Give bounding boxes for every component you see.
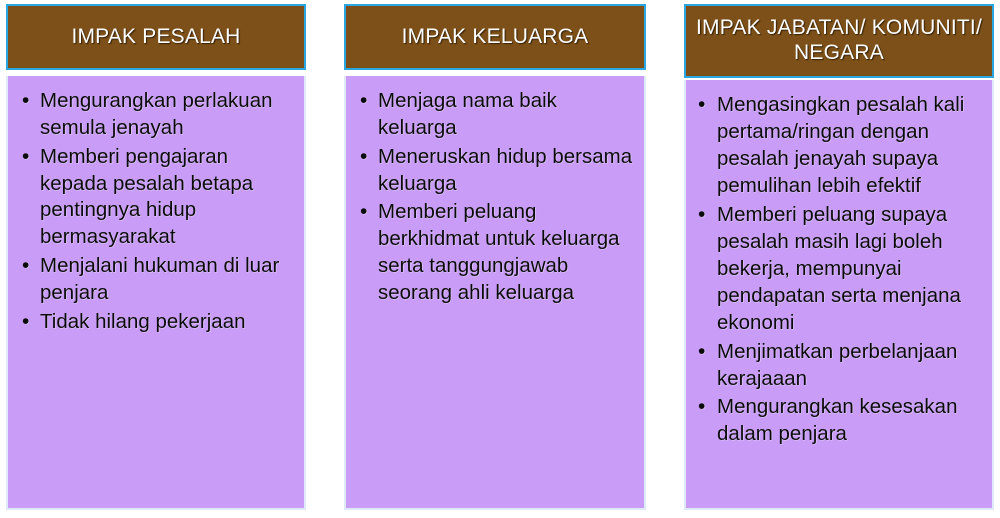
list-item: Menjimatkan perbelanjaan kerajaaan: [692, 339, 984, 393]
column-impak-jabatan-komuniti-negara: IMPAK JABATAN/ KOMUNITI/ NEGARA Mengasin…: [684, 4, 994, 510]
list-item: Memberi pengajaran kepada pesalah betapa…: [14, 144, 296, 251]
list-item: Menjaga nama baik keluarga: [352, 88, 636, 142]
column-body-impak-keluarga: Menjaga nama baik keluarga Meneruskan hi…: [344, 76, 646, 510]
list-item: Mengurangkan kesesakan dalam penjara: [692, 394, 984, 448]
bullet-list-impak-keluarga: Menjaga nama baik keluarga Meneruskan hi…: [352, 88, 636, 307]
column-header-impak-pesalah: IMPAK PESALAH: [6, 4, 306, 70]
impact-comparison-board: IMPAK PESALAH Mengurangkan perlakuan sem…: [0, 0, 1000, 518]
column-header-impak-jabatan-komuniti-negara: IMPAK JABATAN/ KOMUNITI/ NEGARA: [684, 4, 994, 78]
column-impak-pesalah: IMPAK PESALAH Mengurangkan perlakuan sem…: [6, 4, 306, 510]
list-item: Mengasingkan pesalah kali pertama/ringan…: [692, 92, 984, 200]
column-header-impak-keluarga: IMPAK KELUARGA: [344, 4, 646, 70]
list-item: Meneruskan hidup bersama keluarga: [352, 144, 636, 198]
bullet-list-impak-pesalah: Mengurangkan perlakuan semula jenayah Me…: [14, 88, 296, 336]
column-body-impak-pesalah: Mengurangkan perlakuan semula jenayah Me…: [6, 76, 306, 510]
list-item: Menjalani hukuman di luar penjara: [14, 253, 296, 307]
list-item: Memberi peluang supaya pesalah masih lag…: [692, 202, 984, 337]
list-item: Mengurangkan perlakuan semula jenayah: [14, 88, 296, 142]
list-item: Memberi peluang berkhidmat untuk keluarg…: [352, 199, 636, 306]
column-body-impak-jabatan-komuniti-negara: Mengasingkan pesalah kali pertama/ringan…: [684, 80, 994, 510]
column-impak-keluarga: IMPAK KELUARGA Menjaga nama baik keluarg…: [344, 4, 646, 510]
bullet-list-impak-jabatan-komuniti-negara: Mengasingkan pesalah kali pertama/ringan…: [692, 92, 984, 448]
list-item: Tidak hilang pekerjaan: [14, 309, 296, 336]
